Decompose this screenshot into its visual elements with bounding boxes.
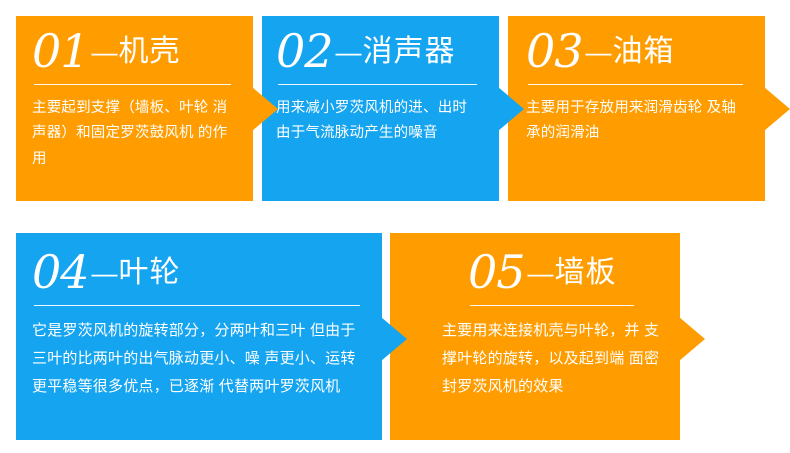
info-card-01-word: 机壳 bbox=[119, 35, 181, 68]
info-card-04-divider bbox=[34, 305, 360, 306]
info-card-04-description: 它是罗茨风机的旋转部分，分两叶和三叶 但由于三叶的比两叶的出气脉动更小、噪 声更… bbox=[32, 317, 364, 400]
info-card-04-body: 04—叶轮 它是罗茨风机的旋转部分，分两叶和三叶 但由于三叶的比两叶的出气脉动更… bbox=[16, 233, 382, 440]
chevron-right-icon bbox=[381, 317, 407, 361]
info-card-01-number: 01 bbox=[32, 24, 89, 78]
info-card-02-body: 02—消声器 用来减小罗茨风机的进、出时 由于气流脉动产生的噪音 bbox=[262, 16, 499, 201]
info-card-04-number: 04 bbox=[32, 245, 89, 299]
info-card-02-word: 消声器 bbox=[363, 35, 456, 68]
info-card-04-word: 叶轮 bbox=[119, 256, 181, 289]
chevron-right-icon bbox=[679, 317, 705, 361]
info-card-04: 04—叶轮 它是罗茨风机的旋转部分，分两叶和三叶 但由于三叶的比两叶的出气脉动更… bbox=[16, 233, 382, 440]
info-card-01-dash: — bbox=[89, 37, 119, 67]
chevron-right-icon bbox=[252, 87, 278, 131]
info-card-02-divider bbox=[278, 84, 477, 85]
info-card-05-description: 主要用来连接机壳与叶轮，并 支撑叶轮的旋转，以及起到端 面密封罗茨风机的效果 bbox=[442, 317, 662, 400]
info-card-03-number: 03 bbox=[526, 24, 583, 78]
info-card-01-title: 01—机壳 bbox=[32, 28, 235, 82]
info-card-05: 05—墙板 主要用来连接机壳与叶轮，并 支撑叶轮的旋转，以及起到端 面密封罗茨风… bbox=[390, 233, 680, 440]
info-card-05-number: 05 bbox=[468, 245, 525, 299]
info-card-01-divider bbox=[34, 84, 231, 85]
info-card-05-dash: — bbox=[525, 258, 555, 288]
info-card-05-word: 墙板 bbox=[555, 256, 617, 289]
info-card-03: 03—油箱 主要用于存放用来润滑齿轮 及轴承的润滑油 bbox=[508, 16, 765, 201]
chevron-right-icon bbox=[764, 87, 790, 131]
info-card-02-title: 02—消声器 bbox=[276, 28, 481, 82]
info-card-02-description: 用来减小罗茨风机的进、出时 由于气流脉动产生的噪音 bbox=[276, 96, 481, 147]
info-card-05-body: 05—墙板 主要用来连接机壳与叶轮，并 支撑叶轮的旋转，以及起到端 面密封罗茨风… bbox=[390, 233, 680, 440]
info-card-01: 01—机壳 主要起到支撑（墙板、叶轮 消声器）和固定罗茨鼓风机 的作用 bbox=[16, 16, 253, 201]
info-card-02-dash: — bbox=[333, 37, 363, 67]
info-card-05-title: 05—墙板 bbox=[442, 249, 662, 303]
info-card-03-description: 主要用于存放用来润滑齿轮 及轴承的润滑油 bbox=[526, 96, 747, 147]
info-card-01-body: 01—机壳 主要起到支撑（墙板、叶轮 消声器）和固定罗茨鼓风机 的作用 bbox=[16, 16, 253, 201]
info-card-03-dash: — bbox=[583, 37, 613, 67]
chevron-right-icon bbox=[498, 87, 524, 131]
info-card-04-dash: — bbox=[89, 258, 119, 288]
info-card-04-title: 04—叶轮 bbox=[32, 249, 364, 303]
info-card-03-divider bbox=[528, 84, 743, 85]
infographic-root: 01—机壳 主要起到支撑（墙板、叶轮 消声器）和固定罗茨鼓风机 的作用 02—消… bbox=[0, 0, 790, 453]
info-card-03-word: 油箱 bbox=[613, 35, 675, 68]
info-card-01-description: 主要起到支撑（墙板、叶轮 消声器）和固定罗茨鼓风机 的作用 bbox=[32, 96, 235, 172]
info-card-02: 02—消声器 用来减小罗茨风机的进、出时 由于气流脉动产生的噪音 bbox=[262, 16, 499, 201]
info-card-03-body: 03—油箱 主要用于存放用来润滑齿轮 及轴承的润滑油 bbox=[508, 16, 765, 201]
info-card-05-divider bbox=[470, 305, 634, 306]
info-card-03-title: 03—油箱 bbox=[526, 28, 747, 82]
info-card-02-number: 02 bbox=[276, 24, 333, 78]
